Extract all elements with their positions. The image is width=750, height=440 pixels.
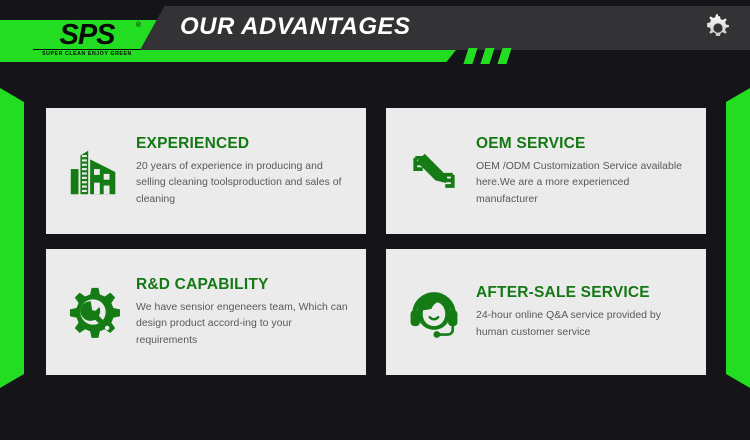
advantage-card-experienced[interactable]: EXPERIENCED 20 years of experience in pr… <box>46 108 366 234</box>
card-title: OEM SERVICE <box>476 135 694 153</box>
advantages-grid: EXPERIENCED 20 years of experience in pr… <box>46 108 706 375</box>
logo-registered-mark: ® <box>136 22 141 29</box>
gear-icon[interactable] <box>702 12 734 44</box>
page-title: OUR ADVANTAGES <box>180 13 411 41</box>
card-description: OEM /ODM Customization Service available… <box>476 158 694 207</box>
card-title: R&D CAPABILITY <box>136 276 354 294</box>
page-header: SPS ® SUPER CLEAN ENJOY GREEN OUR ADVANT… <box>0 0 750 72</box>
brand-logo[interactable]: SPS ® SUPER CLEAN ENJOY GREEN <box>33 22 141 60</box>
right-accent-bar <box>726 88 750 388</box>
headset-agent-icon <box>402 280 466 344</box>
card-description: 20 years of experience in producing and … <box>136 158 354 207</box>
advantage-card-oem-service[interactable]: OEM SERVICE OEM /ODM Customization Servi… <box>386 108 706 234</box>
card-content: R&D CAPABILITY We have sensior engeneers… <box>136 276 354 348</box>
accent-stripe <box>497 48 511 64</box>
card-content: OEM SERVICE OEM /ODM Customization Servi… <box>476 135 694 207</box>
advantage-card-rd-capability[interactable]: R&D CAPABILITY We have sensior engeneers… <box>46 249 366 375</box>
advantages-banner: SPS ® SUPER CLEAN ENJOY GREEN OUR ADVANT… <box>0 0 750 440</box>
gear-wrench-icon <box>62 280 126 344</box>
card-title: EXPERIENCED <box>136 135 354 153</box>
card-description: We have sensior engeneers team, Which ca… <box>136 299 354 348</box>
pencil-wrench-icon <box>402 139 466 203</box>
accent-stripe <box>463 48 477 64</box>
advantage-card-after-sale-service[interactable]: AFTER-SALE SERVICE 24-hour online Q&A se… <box>386 249 706 375</box>
card-content: EXPERIENCED 20 years of experience in pr… <box>136 135 354 207</box>
building-icon <box>62 139 126 203</box>
card-description: 24-hour online Q&A service provided by h… <box>476 307 694 340</box>
accent-stripes <box>466 48 546 64</box>
left-accent-bar <box>0 88 24 388</box>
card-title: AFTER-SALE SERVICE <box>476 284 694 302</box>
accent-stripe <box>480 48 494 64</box>
card-content: AFTER-SALE SERVICE 24-hour online Q&A se… <box>476 284 694 340</box>
logo-wordmark: SPS <box>33 22 141 48</box>
logo-tagline: SUPER CLEAN ENJOY GREEN <box>33 49 141 57</box>
